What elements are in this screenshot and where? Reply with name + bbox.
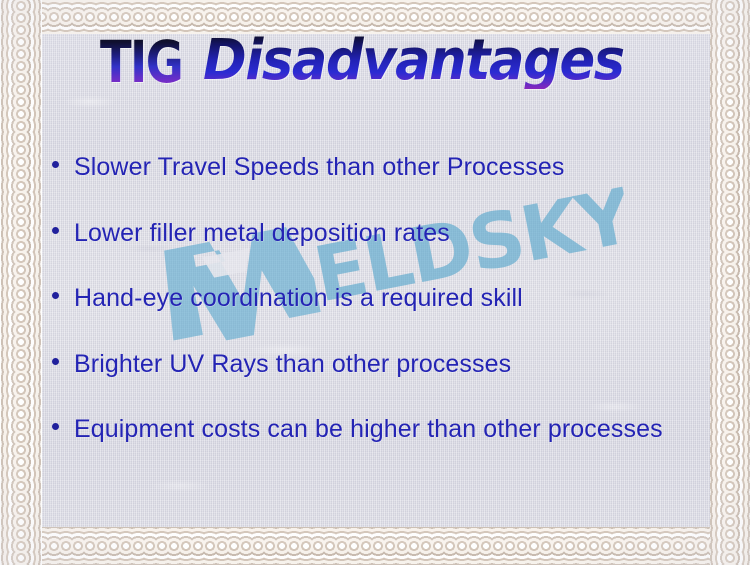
slide-canvas: ELDSKY TIG Disadvantages Slower Travel S… [0,0,750,565]
bullet-item: Equipment costs can be higher than other… [48,412,688,448]
bullet-marker-icon [48,347,74,365]
bullet-text: Brighter UV Rays than other processes [74,347,688,383]
bullet-text: Lower filler metal deposition rates [74,216,688,252]
bullet-marker-icon [48,412,74,430]
bullet-marker-icon [48,281,74,299]
bullet-item: Hand-eye coordination is a required skil… [48,281,688,317]
title-main-disadvantages: Disadvantages [203,33,624,89]
bullet-marker-icon [48,150,74,168]
bullet-list: Slower Travel Speeds than other Processe… [48,150,688,448]
slide-title: TIG Disadvantages [0,33,750,105]
bullet-item: Slower Travel Speeds than other Processe… [48,150,688,186]
title-lead-tig: TIG [100,33,182,91]
bullet-text: Hand-eye coordination is a required skil… [74,281,688,317]
bullet-item: Brighter UV Rays than other processes [48,347,688,383]
bullet-item: Lower filler metal deposition rates [48,216,688,252]
bullet-text: Slower Travel Speeds than other Processe… [74,150,688,186]
bullet-text: Equipment costs can be higher than other… [74,412,688,448]
bullet-marker-icon [48,216,74,234]
